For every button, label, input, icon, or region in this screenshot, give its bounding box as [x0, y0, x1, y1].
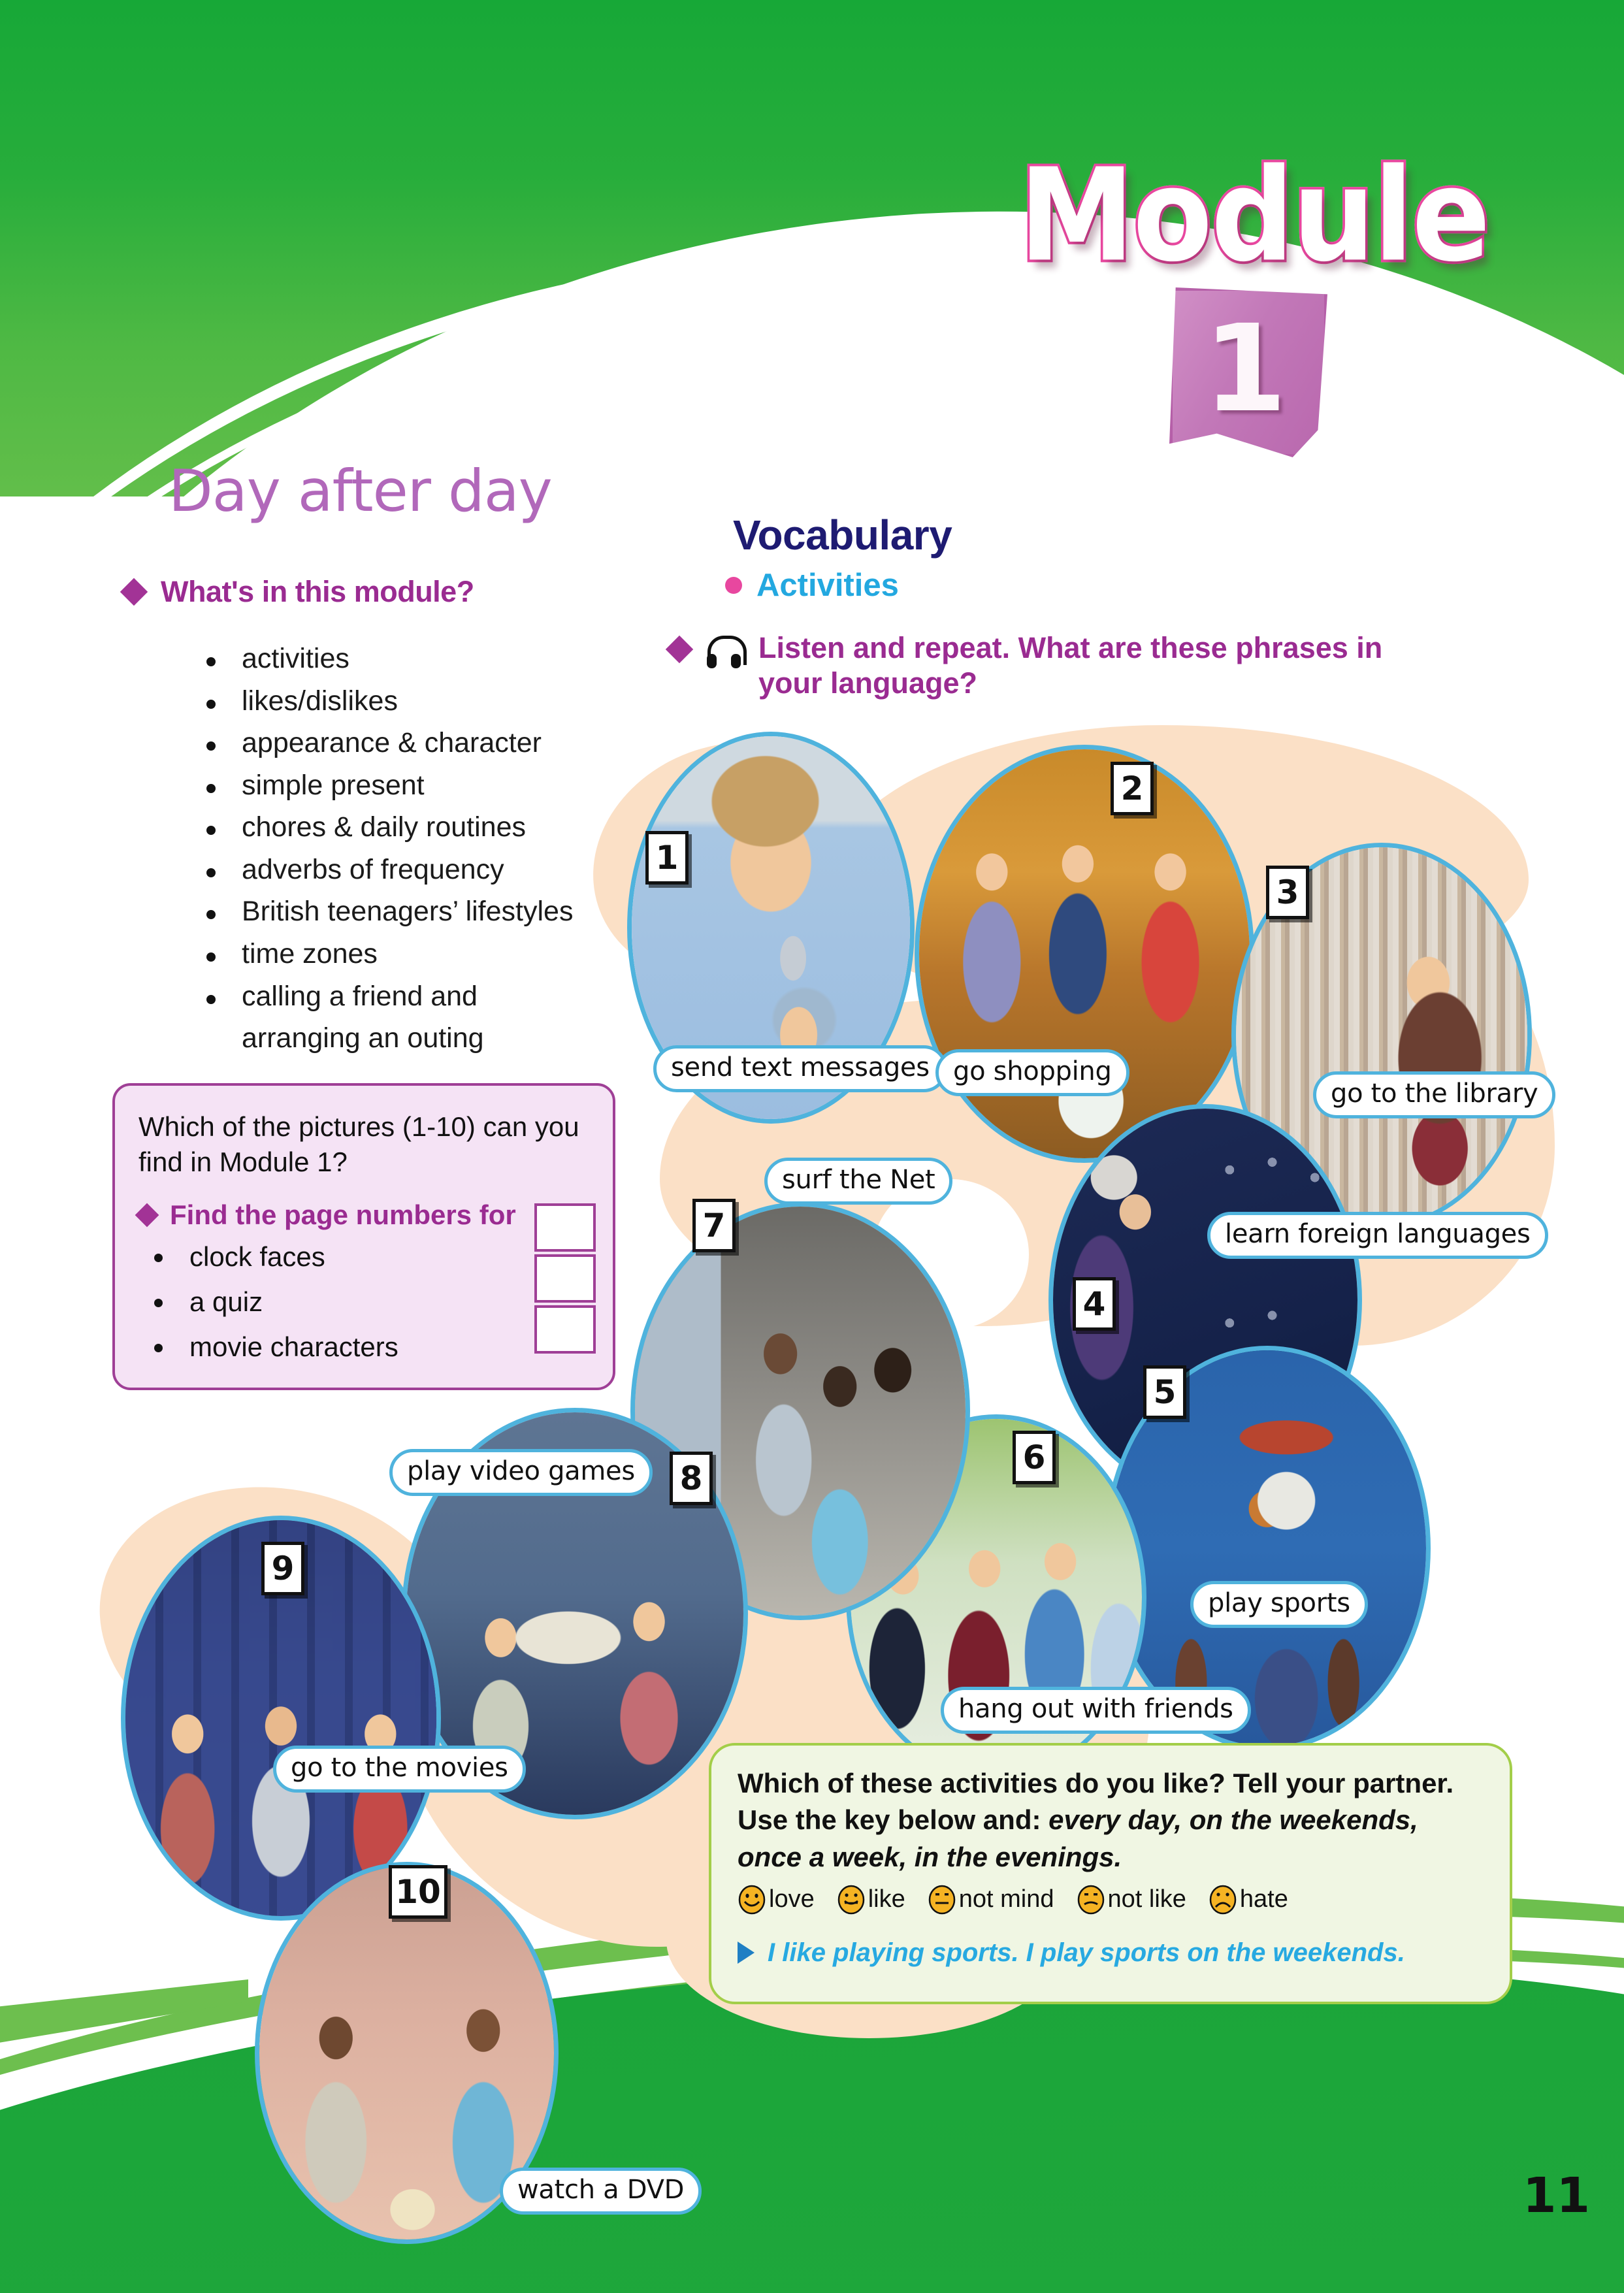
list-item: clock faces: [138, 1241, 589, 1273]
key-item-like: like: [837, 1885, 905, 1915]
photo-label-5: play sports: [1190, 1581, 1368, 1628]
module-contents-heading-text: What's in this module?: [161, 575, 474, 609]
photo-number-2: 2: [1111, 762, 1154, 815]
find-pages-box: Which of the pictures (1-10) can you fin…: [112, 1083, 615, 1390]
pink-box-question: Which of the pictures (1-10) can you fin…: [138, 1109, 589, 1180]
list-item: a quiz: [138, 1286, 589, 1318]
photo-number-1: 1: [645, 831, 689, 885]
speaking-task-box: Which of these activities do you like? T…: [709, 1743, 1512, 2004]
triangle-bullet-icon: [738, 1942, 755, 1964]
photo-label-3: go to the library: [1313, 1071, 1555, 1118]
list-item: simple present: [195, 771, 573, 801]
list-item: calling a friend and: [195, 982, 573, 1012]
answer-input-a-quiz[interactable]: [534, 1254, 596, 1303]
photo-number-10: 10: [389, 1865, 447, 1919]
find-pages-heading-text: Find the page numbers for: [170, 1199, 516, 1231]
list-item: movie characters: [138, 1331, 589, 1363]
photo-number-5: 5: [1143, 1365, 1186, 1419]
find-pages-list: clock faces a quiz movie characters: [138, 1241, 589, 1363]
find-pages-heading: Find the page numbers for: [138, 1199, 589, 1231]
photo-number-3: 3: [1266, 866, 1309, 919]
vocabulary-subtitle: Activities: [725, 567, 899, 604]
pink-dot-icon: [725, 577, 742, 594]
photo-label-7: surf the Net: [764, 1158, 952, 1205]
photo-number-9: 9: [261, 1542, 304, 1595]
module-wordmark: Module: [1019, 140, 1489, 290]
key-item-hate: hate: [1209, 1885, 1288, 1915]
module-contents-list: activities likes/dislikes appearance & c…: [169, 644, 573, 1066]
key-label-not-mind: not mind: [959, 1885, 1054, 1913]
list-item: British teenagers’ lifestyles: [195, 897, 573, 927]
photo-label-10: watch a DVD: [500, 2168, 702, 2215]
photo-number-4: 4: [1073, 1277, 1116, 1331]
photo-label-2: go shopping: [935, 1049, 1129, 1096]
green-box-line-1: Which of these activities do you like? T…: [738, 1765, 1484, 1802]
vocabulary-title: Vocabulary: [733, 511, 952, 559]
smiley-like-icon: [837, 1885, 866, 1915]
listen-task-text: Listen and repeat. What are these phrase…: [758, 630, 1451, 701]
list-item: likes/dislikes: [195, 687, 573, 717]
photo-label-1: send text messages: [653, 1045, 947, 1092]
photo-number-8: 8: [670, 1452, 713, 1505]
answer-box-group: [534, 1203, 596, 1356]
green-box-line-2-lead: Use the key below and:: [738, 1804, 1048, 1835]
key-label-like: like: [868, 1885, 905, 1913]
photo-label-6: hang out with friends: [941, 1687, 1251, 1734]
answer-input-clock-faces[interactable]: [534, 1203, 596, 1252]
smiley-hate-icon: [1209, 1885, 1237, 1915]
module-contents-heading: What's in this module?: [124, 575, 474, 609]
photo-2-go-shopping[interactable]: [915, 745, 1254, 1163]
key-label-love: love: [769, 1885, 815, 1913]
module-number: 1: [1169, 287, 1321, 451]
list-item: adverbs of frequency: [195, 855, 573, 885]
photo-number-7: 7: [692, 1199, 736, 1252]
listen-and-repeat-task: Listen and repeat. What are these phrase…: [670, 630, 1453, 701]
textbook-page: Module 1 Day after day What's in this mo…: [0, 0, 1624, 2293]
diamond-bullet-icon: [666, 636, 693, 663]
list-item: chores & daily routines: [195, 813, 573, 843]
diamond-bullet-icon: [120, 578, 148, 606]
key-item-love: love: [738, 1885, 815, 1915]
headphone-icon: [705, 636, 743, 670]
list-item: appearance & character: [195, 728, 573, 758]
list-item: time zones: [195, 939, 573, 969]
example-sentence: I like playing sports. I play sports on …: [768, 1938, 1405, 1968]
page-title: Day after day: [169, 457, 552, 525]
smiley-love-icon: [738, 1885, 766, 1915]
green-box-line-2: Use the key below and: every day, on the…: [738, 1802, 1484, 1876]
list-item-continuation: arranging an outing: [195, 1024, 573, 1054]
smiley-neutral-icon: [928, 1885, 956, 1915]
vocabulary-subtitle-text: Activities: [756, 567, 899, 604]
example-sentence-row: I like playing sports. I play sports on …: [738, 1938, 1484, 1968]
key-item-not-mind: not mind: [928, 1885, 1054, 1915]
emotion-key-row: love like not mind: [738, 1885, 1484, 1915]
list-item: activities: [195, 644, 573, 674]
key-item-not-like: not like: [1077, 1885, 1186, 1915]
page-number: 11: [1523, 2168, 1590, 2224]
smiley-notlike-icon: [1077, 1885, 1105, 1915]
answer-input-movie-characters[interactable]: [534, 1305, 596, 1354]
diamond-bullet-icon: [135, 1203, 159, 1227]
photo-label-9: go to the movies: [273, 1746, 526, 1793]
photo-label-4: learn foreign languages: [1207, 1212, 1548, 1259]
key-label-hate: hate: [1240, 1885, 1288, 1913]
key-label-not-like: not like: [1108, 1885, 1186, 1913]
photo-label-8: play video games: [389, 1449, 653, 1496]
photo-number-6: 6: [1013, 1431, 1056, 1484]
